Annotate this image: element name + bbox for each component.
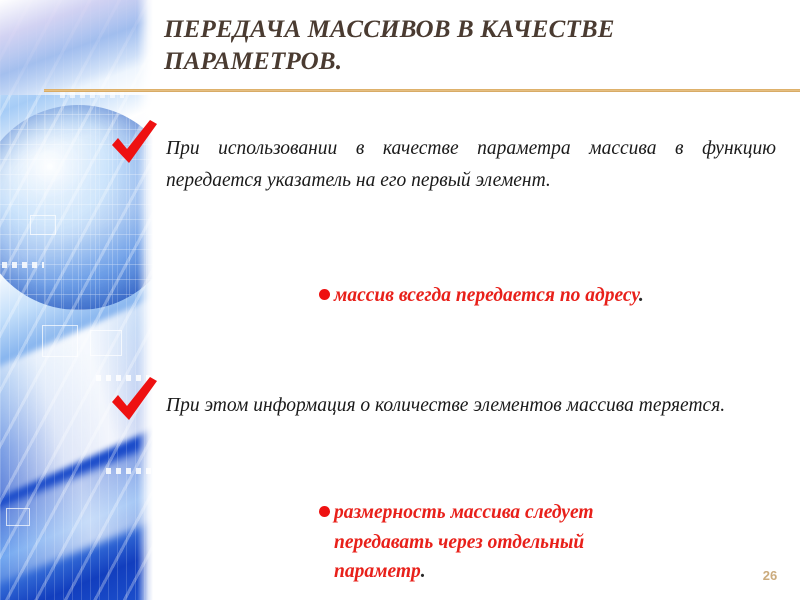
- highlight-bullet-two-period: .: [421, 561, 426, 582]
- highlight-bullet-two: размерность массива следует передавать ч…: [319, 498, 649, 587]
- highlight-bullet-one-label: массив всегда передается по адресу: [334, 285, 639, 306]
- circuit-square-2: [90, 330, 122, 356]
- paragraph-two: При этом информация о количестве элемент…: [166, 390, 776, 422]
- circuit-square-1: [42, 325, 78, 357]
- red-bullet-icon: [319, 289, 330, 300]
- page-number: 26: [752, 568, 788, 583]
- circuit-square-3: [6, 508, 30, 526]
- sidebar-top-haze: [0, 0, 153, 95]
- red-checkmark-icon: [108, 118, 160, 168]
- highlight-bullet-one-text: массив всегда передается по адресу.: [334, 281, 644, 311]
- circuit-square-4: [30, 215, 56, 235]
- highlight-bullet-two-label: размерность массива следует передавать ч…: [334, 502, 594, 582]
- highlight-bullet-one-period: .: [639, 285, 644, 306]
- paragraph-one: При использовании в качестве параметра м…: [166, 133, 776, 196]
- highlight-bullet-two-text: размерность массива следует передавать ч…: [334, 498, 649, 587]
- title-divider: [44, 89, 800, 92]
- red-bullet-icon-2: [319, 506, 330, 517]
- page-title: ПЕРЕДАЧА МАССИВОВ В КАЧЕСТВЕ ПАРАМЕТРОВ.: [164, 14, 764, 78]
- circuit-dashes-3: [2, 262, 44, 268]
- red-checkmark-icon-2: [108, 375, 160, 425]
- highlight-bullet-one: массив всегда передается по адресу.: [319, 281, 769, 311]
- slide: ПЕРЕДАЧА МАССИВОВ В КАЧЕСТВЕ ПАРАМЕТРОВ.…: [0, 0, 800, 600]
